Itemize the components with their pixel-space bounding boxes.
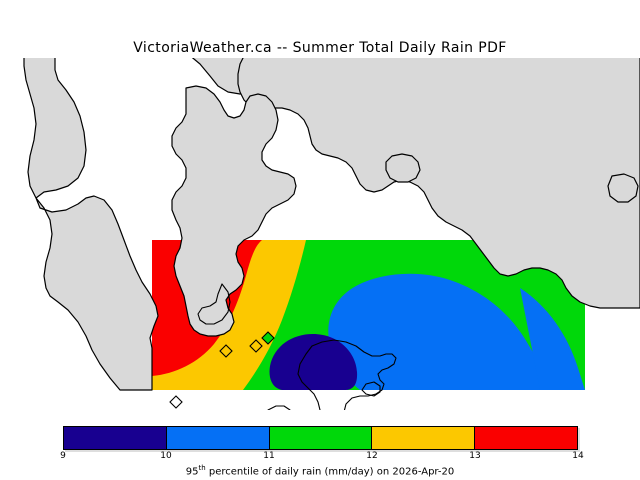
- caption-rest: percentile of daily rain (mm/day) on 202…: [206, 466, 455, 477]
- caption-superscript: th: [199, 464, 206, 472]
- weather-map: [0, 58, 640, 410]
- colorbar-tick-label: 10: [160, 451, 171, 461]
- land-west-continent: [24, 58, 158, 390]
- colorbar-ticks: 91011121314: [0, 451, 640, 465]
- page-title: VictoriaWeather.ca -- Summer Total Daily…: [0, 40, 640, 56]
- colorbar-tick-label: 9: [60, 451, 66, 461]
- colorbar-band-4: [475, 427, 577, 449]
- caption-prefix: 95: [186, 466, 199, 477]
- colorbar-section: 91011121314 95th percentile of daily rai…: [0, 418, 640, 480]
- colorbar-band-0: [64, 427, 167, 449]
- land-island-east-edge: [608, 174, 638, 202]
- colorbar-band-3: [372, 427, 475, 449]
- colorbar-tick-label: 13: [469, 451, 480, 461]
- land-island-northeast: [386, 154, 420, 182]
- colorbar: [63, 426, 578, 450]
- colorbar-tick-label: 11: [263, 451, 274, 461]
- station-marker: [170, 396, 182, 408]
- colorbar-band-1: [167, 427, 270, 449]
- colorbar-band-2: [270, 427, 373, 449]
- colorbar-caption: 95th percentile of daily rain (mm/day) o…: [0, 464, 640, 477]
- colorbar-tick-label: 14: [572, 451, 583, 461]
- coast-small-island-west: [258, 406, 292, 410]
- colorbar-tick-label: 12: [366, 451, 377, 461]
- map-canvas: [0, 58, 640, 410]
